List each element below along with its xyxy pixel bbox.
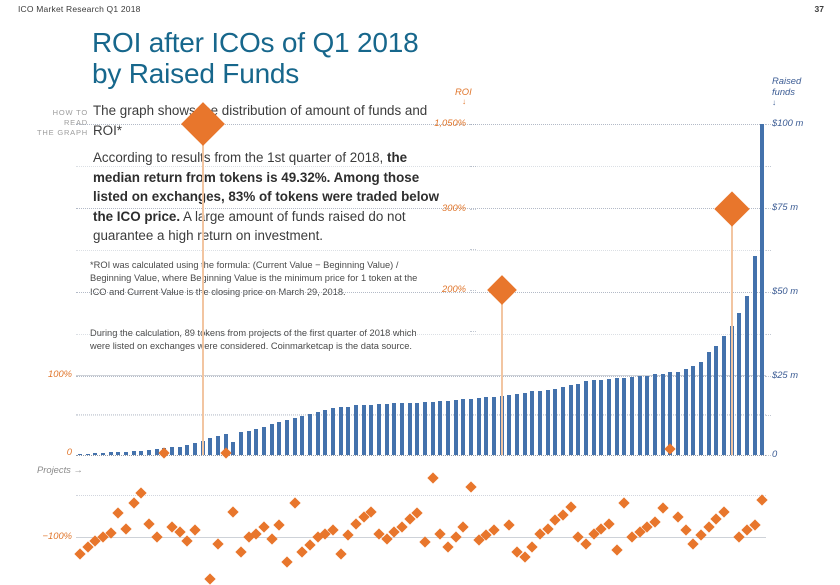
bar-raised-funds [538,391,542,455]
right-axis-title-1: Raised [772,75,801,86]
bar-raised-funds [645,376,649,455]
roi-diamond [158,447,169,458]
funds-tick-75: $75 m [772,201,798,212]
bar-raised-funds [423,402,427,455]
center-tickmark-1 [470,209,476,210]
center-tickmark-0 [470,124,476,125]
bar-raised-funds [408,403,412,455]
bar-raised-funds [78,454,82,455]
roi-tick--100: −100% [14,530,72,541]
bar-raised-funds [707,352,711,455]
bar-raised-funds [185,445,189,455]
roi-diamond [487,276,515,304]
bar-raised-funds [469,399,473,455]
roi-diamond [212,538,223,549]
roi-diamond [273,520,284,531]
right-tickmark-8 [766,415,771,416]
right-tickmark-4 [766,455,771,456]
roi-diamond [695,530,706,541]
bar-raised-funds [101,453,105,455]
bar-raised-funds [546,390,550,455]
bar-raised-funds [208,438,212,455]
right-axis-title-2: funds [772,86,795,97]
roi-diamond [465,481,476,492]
roi-diamond [296,546,307,557]
right-axis-arrow: ↓ [772,97,776,108]
center-axis-arrow: ↓ [462,97,466,106]
bar-raised-funds [691,366,695,455]
roi-diamond [128,498,139,509]
roi-diamond [143,519,154,530]
roi-diamond [715,192,749,226]
x-axis-label: Projects → [37,464,83,475]
gridline-minor-2 [76,334,766,335]
roi-diamond [611,545,622,556]
funds-tick-100: $100 m [772,117,803,128]
bar-raised-funds [254,429,258,455]
gridline-0 [76,455,766,456]
right-tickmark-1 [766,208,771,209]
center-tickmark-2 [470,290,476,291]
bar-raised-funds [760,124,764,455]
bar-raised-funds [622,378,626,455]
bar-raised-funds [109,452,113,455]
bar-raised-funds [753,256,757,455]
bar-raised-funds [293,418,297,455]
roi-diamond [258,521,269,532]
roi-diamond [580,538,591,549]
roi-diamond [526,541,537,552]
center-tickmark-3 [470,166,476,167]
bar-raised-funds [369,405,373,455]
bar-raised-funds [561,387,565,455]
roi-diamond [733,531,744,542]
bar-raised-funds [377,404,381,455]
center-tick-1050: 1,050% [418,117,466,128]
bar-raised-funds [553,389,557,455]
bar-raised-funds [484,397,488,455]
bar-raised-funds [676,372,680,455]
roi-diamond [204,573,215,584]
roi-diamond [227,506,238,517]
bar-raised-funds [576,384,580,455]
center-tick-200: 200% [418,283,466,294]
bar-raised-funds [231,442,235,455]
roi-diamond [756,494,767,505]
funds-tick-50: $50 m [772,285,798,296]
right-tickmark-3 [766,376,771,377]
center-axis-title: ROI [455,86,472,97]
bar-raised-funds [653,374,657,455]
bar-raised-funds [285,420,289,455]
bar-raised-funds [714,346,718,455]
bar-raised-funds [477,398,481,455]
roi-tick-100: 100% [14,368,72,379]
bar-raised-funds [699,362,703,455]
bar-raised-funds [346,407,350,455]
roi-diamond [503,520,514,531]
roi-diamond [703,521,714,532]
bar-raised-funds [454,400,458,455]
bar-raised-funds [431,402,435,455]
bar-raised-funds [178,447,182,455]
bar-raised-funds [630,377,634,455]
bar-raised-funds [515,394,519,455]
bar-raised-funds [331,408,335,455]
roi-diamond [181,103,223,145]
roi-diamond [342,530,353,541]
bar-raised-funds [124,452,128,455]
bar-raised-funds [247,431,251,455]
bar-raised-funds [193,443,197,455]
bar-raised-funds [362,405,366,455]
bar-raised-funds [661,374,665,455]
right-tickmark-0 [766,124,771,125]
gridline-minor-0 [76,166,766,167]
bar-raised-funds [354,405,358,455]
bar-raised-funds [607,379,611,455]
roi-diamond [235,546,246,557]
bar-raised-funds [530,391,534,455]
bar-raised-funds [170,447,174,455]
right-tickmark-2 [766,292,771,293]
bar-raised-funds [277,422,281,455]
right-tickmark-6 [766,250,771,251]
bar-raised-funds [116,452,120,455]
roi-gridline-minor-1 [76,495,766,496]
roi-diamond [672,511,683,522]
bar-raised-funds [239,432,243,455]
bar-raised-funds [86,454,90,455]
funds-tick-0: 0 [772,448,777,459]
roi-diamond [618,498,629,509]
bar-raised-funds [316,412,320,455]
bar-raised-funds [400,403,404,455]
roi-diamond [335,548,346,559]
center-tick-300: 300% [418,202,466,213]
bar-raised-funds [262,427,266,455]
roi-diamond [281,557,292,568]
roi-diamond [151,531,162,542]
bar-raised-funds [615,378,619,455]
bar-raised-funds [438,401,442,455]
bar-raised-funds [392,403,396,455]
bar-raised-funds [93,453,97,455]
roi-diamond [565,501,576,512]
bar-raised-funds [308,414,312,455]
bar-raised-funds [446,401,450,455]
bar-raised-funds [584,381,588,455]
bar-raised-funds [385,404,389,455]
roi-diamond [657,503,668,514]
roi-diamond [427,473,438,484]
bar-raised-funds [415,403,419,455]
roi-diamond [419,536,430,547]
bar-raised-funds [139,451,143,455]
center-tickmark-5 [470,331,476,332]
roi-diamond [664,443,675,454]
roi-diamond [350,518,361,529]
bar-raised-funds [507,395,511,455]
bar-raised-funds [722,336,726,455]
infographic-page: ICO Market Research Q1 2018 37 ROI after… [0,0,840,547]
bar-raised-funds [147,450,151,455]
bar-raised-funds [300,416,304,455]
bar-raised-funds [270,424,274,455]
roi-tick-0: 0 [14,446,72,457]
bar-raised-funds [684,369,688,455]
roi-diamond [442,541,453,552]
right-tickmark-5 [766,166,771,167]
roi-diamond [189,525,200,536]
bar-raised-funds [569,385,573,455]
roi-stem [731,209,733,455]
bar-raised-funds [339,407,343,455]
roi-stem [501,290,503,455]
bar-raised-funds [523,393,527,455]
roi-diamond [135,488,146,499]
funds-tick-25: $25 m [772,369,798,380]
bar-raised-funds [638,376,642,455]
roi-diamond [220,447,231,458]
right-tickmark-7 [766,334,771,335]
roi-raised-funds-chart: Projects → ROI↓Raisedfunds↓100%0−100%1,0… [0,0,840,547]
bar-raised-funds [592,380,596,455]
roi-diamond [680,525,691,536]
bar-raised-funds [323,410,327,455]
roi-diamond [120,523,131,534]
bar-raised-funds [599,380,603,455]
gridline-minor-1 [76,250,766,251]
roi-diamond [450,531,461,542]
roi-diamond [112,508,123,519]
bar-raised-funds [745,296,749,455]
roi-diamond [687,538,698,549]
bar-raised-funds [132,451,136,455]
bar-raised-funds [492,397,496,455]
bar-raised-funds [737,313,741,455]
center-tickmark-4 [470,249,476,250]
roi-diamond [457,521,468,532]
roi-diamond [266,533,277,544]
roi-diamond [74,548,85,559]
roi-diamond [718,506,729,517]
roi-diamond [289,498,300,509]
bar-raised-funds [461,399,465,455]
roi-stem [202,124,204,455]
